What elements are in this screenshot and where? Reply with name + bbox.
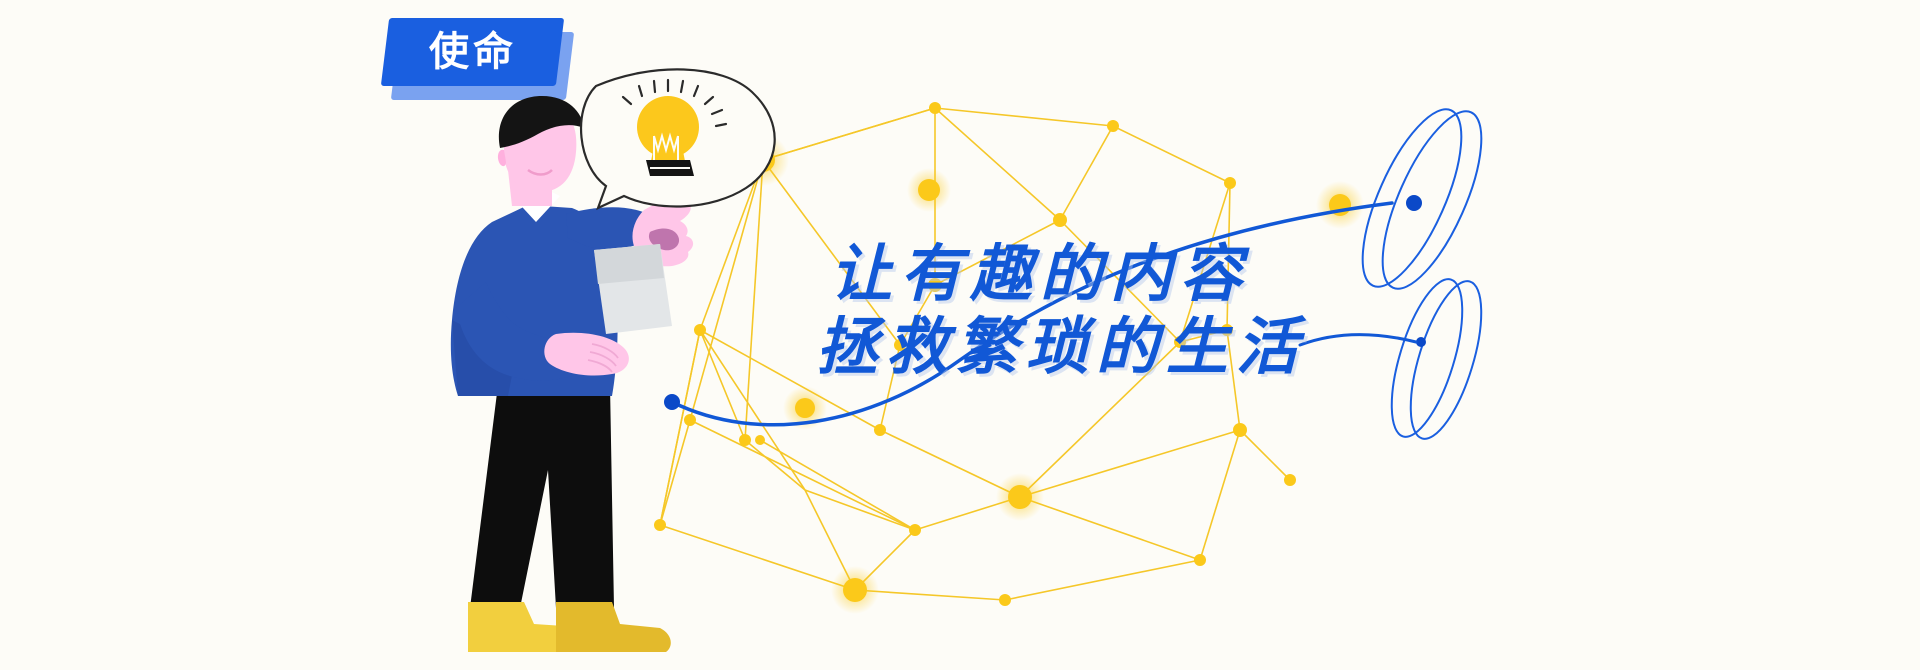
speech-bubble-icon [0, 0, 1920, 670]
mission-banner: 使命 让有趣的内容 拯救繁琐的生活 [0, 0, 1920, 670]
